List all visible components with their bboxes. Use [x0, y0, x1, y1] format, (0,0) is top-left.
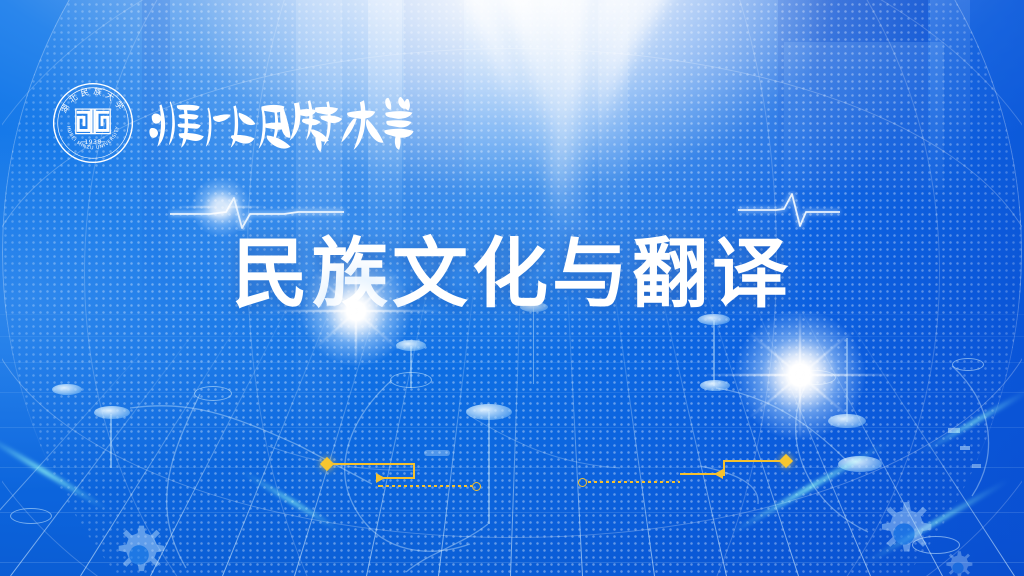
- title-slide: 民族文化与翻译 湖北民族大学: [0, 0, 1024, 576]
- glyph-hu: [149, 101, 203, 147]
- university-seal-icon: 湖北民族大学 HUBEI MINZU UNIVERSITY: [52, 82, 134, 164]
- gear-icon: [104, 520, 174, 576]
- glyph-da: [341, 100, 383, 150]
- slide-title: 民族文化与翻译: [0, 236, 1024, 312]
- gold-trace: [723, 460, 725, 476]
- glyph-xue: [384, 97, 413, 150]
- gold-ring-icon: [472, 482, 481, 491]
- gear-icon: [938, 548, 978, 576]
- circuit-trace-icon: [578, 452, 778, 496]
- gear-icon: [866, 496, 942, 572]
- seal-emblem: [78, 111, 108, 133]
- seal-arc-text-top: 湖北民族大学: [58, 86, 127, 115]
- gold-trace: [380, 477, 415, 479]
- glyph-min: [259, 105, 291, 149]
- gold-trace: [723, 460, 785, 462]
- university-logo: 湖北民族大学 HUBEI MINZU UNIVERSITY: [52, 82, 417, 164]
- gold-dashed-trace: [588, 481, 680, 483]
- gold-trace: [680, 473, 716, 475]
- gold-dashed-trace: [380, 485, 472, 487]
- gold-ring-icon: [578, 478, 587, 487]
- seal-year-group: 1938: [81, 139, 106, 146]
- seal-arc-text-bottom: HUBEI MINZU UNIVERSITY: [65, 125, 121, 151]
- circuit-marker: [972, 464, 981, 468]
- calligraphy-wordmark-icon: [148, 92, 417, 154]
- glyph-zu: [290, 100, 343, 152]
- arrow-right-icon: [714, 469, 723, 479]
- circuit-marker: [960, 446, 970, 450]
- gold-trace: [331, 463, 415, 465]
- glyph-bei: [206, 105, 256, 147]
- seal-year: 1938: [84, 139, 101, 146]
- gold-trace: [678, 481, 680, 483]
- circuit-trace-icon: [322, 455, 502, 495]
- arrow-left-icon: [376, 473, 385, 483]
